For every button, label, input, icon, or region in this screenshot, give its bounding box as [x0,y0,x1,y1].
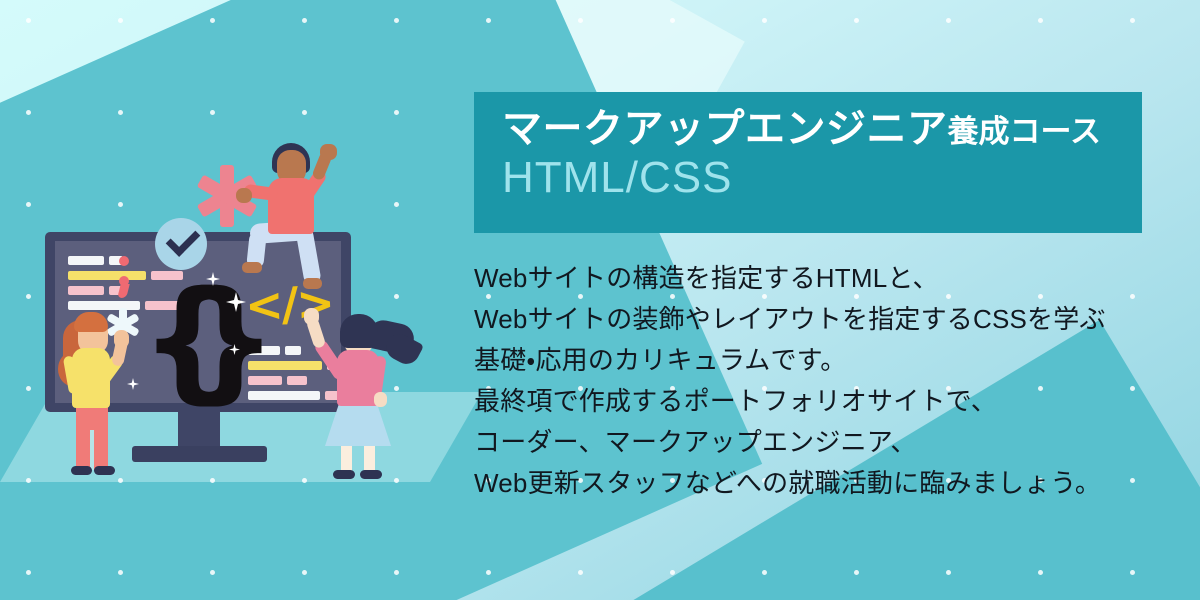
background-dot [854,18,859,23]
course-banner: { } </> [0,0,1200,600]
background-dot [486,570,491,575]
background-dot [1038,18,1043,23]
description-line: 基礎・応用のカリキュラムです。 [474,340,1164,381]
background-dot [670,570,675,575]
code-bar [68,256,104,265]
code-bar [68,271,146,280]
course-title-main: マークアップエンジニア [502,107,948,151]
course-subtitle: HTML/CSS [502,154,1142,202]
background-dot [1038,570,1043,575]
course-illustration: { } </> [0,0,440,600]
background-dot [946,570,951,575]
background-dot [1130,570,1135,575]
semicolon-icon [119,256,129,266]
course-title: マークアップエンジニア養成コース [502,106,1142,152]
description-line: 最終項で作成するポートフォリオサイトで、 [474,381,1164,422]
background-dot [486,18,491,23]
background-dot [670,18,675,23]
background-dot [1130,18,1135,23]
code-bar [68,286,104,295]
course-title-suffix: 養成コース [948,114,1101,149]
monitor-base [132,446,267,462]
background-dot [946,18,951,23]
description-line: Web更新スタッフなどへの就職活動に臨みましょう。 [474,463,1164,504]
background-dot [854,570,859,575]
code-bar [287,376,307,385]
course-description: Webサイトの構造を指定するHTMLと、 Webサイトの装飾やレイアウトを指定す… [474,258,1164,504]
description-line: コーダー、マークアップエンジニア、 [474,422,1164,463]
description-line: Webサイトの構造を指定するHTMLと、 [474,258,1164,299]
background-dot [578,18,583,23]
background-dot [762,18,767,23]
background-dot [762,570,767,575]
title-banner: マークアップエンジニア養成コース HTML/CSS [474,92,1142,233]
code-bar [285,346,301,355]
description-line: Webサイトの装飾やレイアウトを指定するCSSを学ぶ [474,299,1164,340]
background-dot [578,570,583,575]
